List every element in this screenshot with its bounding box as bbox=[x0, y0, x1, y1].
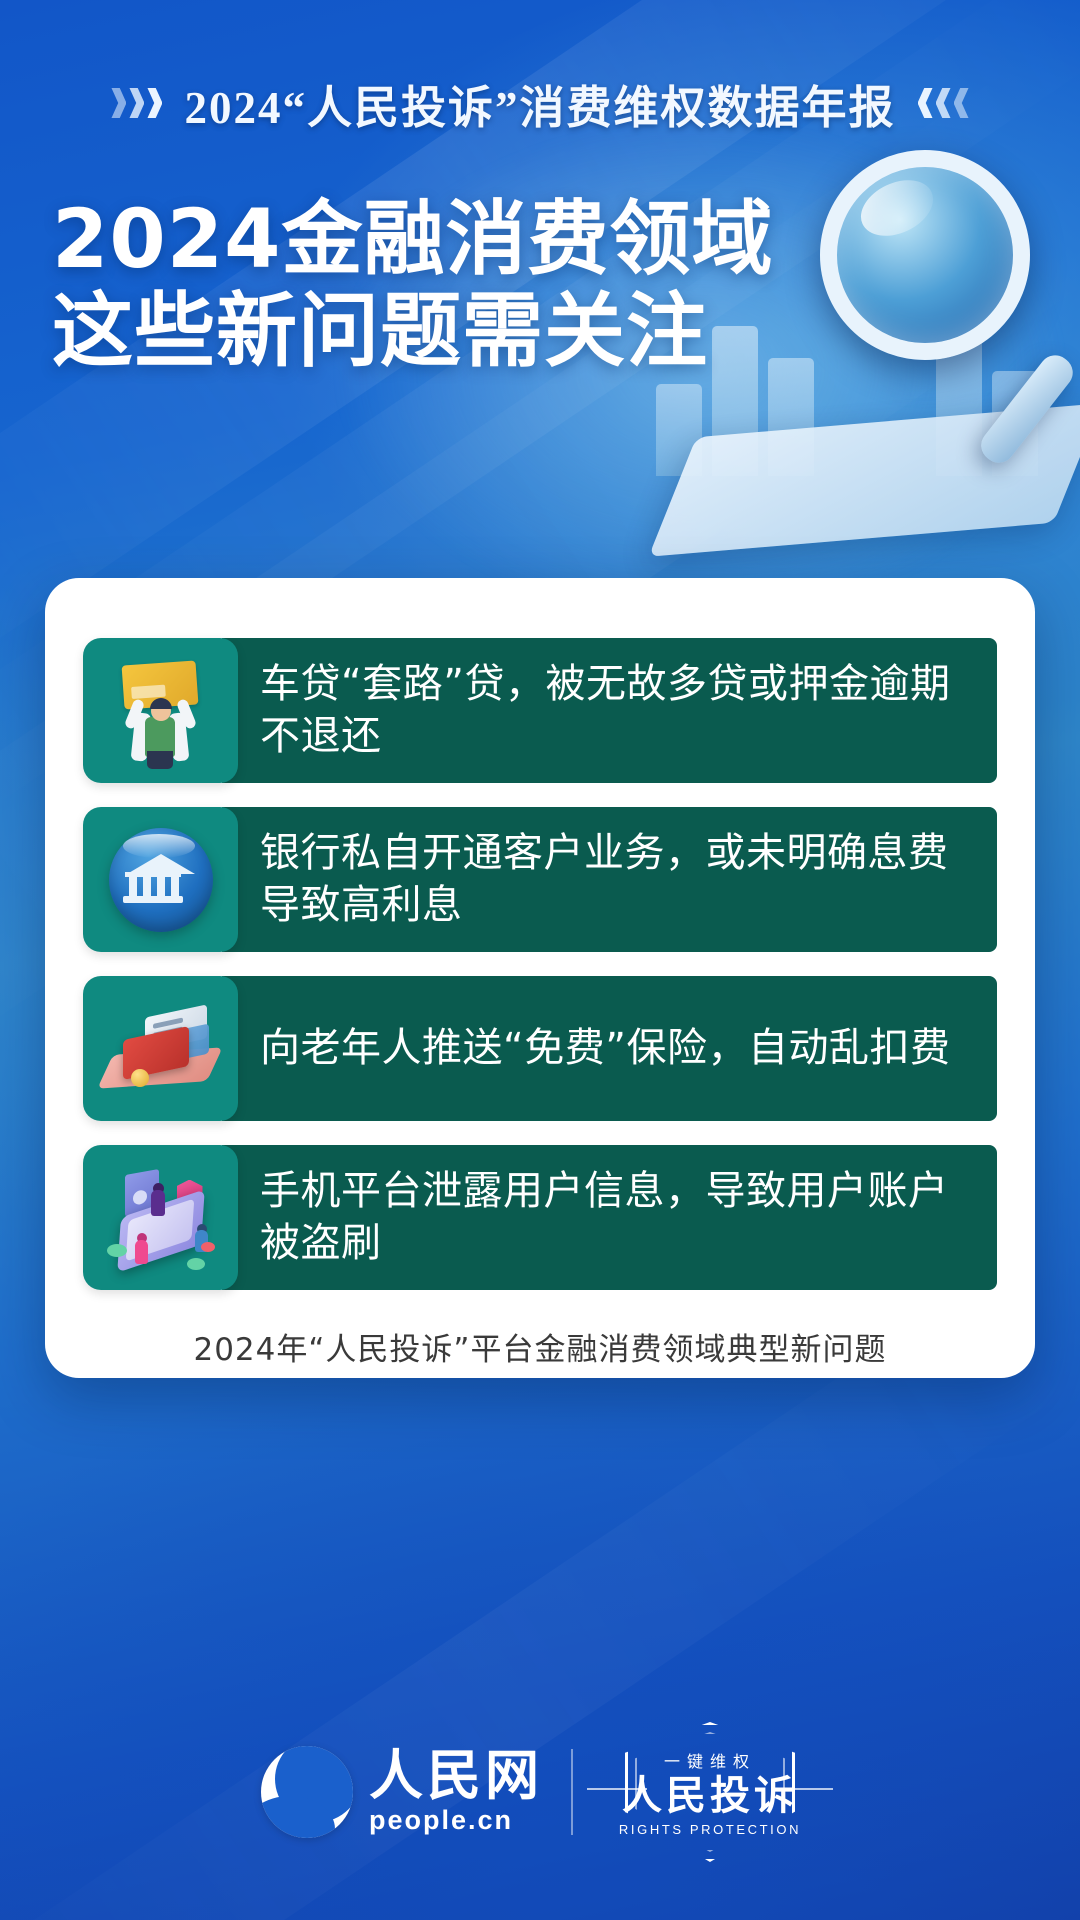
hero-title-line-1: 2024金融消费领域 bbox=[52, 195, 772, 287]
header-banner: 2024“人民投诉”消费维权数据年报 bbox=[0, 60, 1080, 146]
chevron-right-triple-icon bbox=[111, 88, 162, 118]
list-item[interactable]: 车贷“套路”贷，被无故多贷或押金逾期不退还 bbox=[83, 638, 997, 783]
shield-main-label: 人民投诉 bbox=[622, 1776, 798, 1816]
list-item[interactable]: 银行私自开通客户业务，或未明确息费导致高利息 bbox=[83, 807, 997, 952]
rights-protection-logo[interactable]: 一键维权 人民投诉 RIGHTS PROTECTION bbox=[601, 1722, 819, 1862]
wallet-with-cards-icon bbox=[83, 976, 238, 1121]
hero-title-block: 2024金融消费领域 这些新问题需关注 bbox=[52, 195, 772, 378]
footer-logos: 人民网 people.cn 一键维权 人民投诉 RIGHTS PROTECTIO… bbox=[0, 1722, 1080, 1862]
bank-building-circle-icon bbox=[83, 807, 238, 952]
problem-card-list: 车贷“套路”贷，被无故多贷或押金逾期不退还 银行私自开通客户业务，或未明确息费导… bbox=[45, 638, 1035, 1290]
card-text-wrap: 手机平台泄露用户信息，导致用户账户被盗刷 bbox=[222, 1145, 997, 1290]
mobile-platform-data-leak-icon bbox=[83, 1145, 238, 1290]
shield-english-label: RIGHTS PROTECTION bbox=[619, 1822, 801, 1837]
people-cn-logo[interactable]: 人民网 people.cn bbox=[261, 1746, 543, 1838]
people-cn-swirl-logo-icon bbox=[261, 1746, 353, 1838]
panel-caption: 2024年“人民投诉”平台金融消费领域典型新问题 bbox=[45, 1324, 1035, 1369]
chevron-left-triple-icon bbox=[918, 88, 969, 118]
card-text-wrap: 向老年人推送“免费”保险，自动乱扣费 bbox=[222, 976, 997, 1121]
card-text: 向老年人推送“免费”保险，自动乱扣费 bbox=[260, 1023, 950, 1074]
card-text: 银行私自开通客户业务，或未明确息费导致高利息 bbox=[260, 828, 977, 930]
shield-top-label: 一键维权 bbox=[664, 1748, 756, 1772]
card-text-wrap: 银行私自开通客户业务，或未明确息费导致高利息 bbox=[222, 807, 997, 952]
hero-title-line-2: 这些新问题需关注 bbox=[52, 287, 772, 379]
footer-divider bbox=[571, 1749, 573, 1835]
card-text: 手机平台泄露用户信息，导致用户账户被盗刷 bbox=[260, 1166, 977, 1268]
card-text-wrap: 车贷“套路”贷，被无故多贷或押金逾期不退还 bbox=[222, 638, 997, 783]
content-panel: 车贷“套路”贷，被无故多贷或押金逾期不退还 银行私自开通客户业务，或未明确息费导… bbox=[45, 578, 1035, 1378]
list-item[interactable]: 向老年人推送“免费”保险，自动乱扣费 bbox=[83, 976, 997, 1121]
header-title: 2024“人民投诉”消费维权数据年报 bbox=[184, 71, 895, 136]
people-cn-english-name: people.cn bbox=[369, 1805, 543, 1836]
people-cn-chinese-name: 人民网 bbox=[369, 1749, 543, 1803]
person-holding-bank-card-icon bbox=[83, 638, 238, 783]
magnifier-lens-icon bbox=[820, 150, 1030, 360]
card-text: 车贷“套路”贷，被无故多贷或押金逾期不退还 bbox=[260, 659, 977, 761]
list-item[interactable]: 手机平台泄露用户信息，导致用户账户被盗刷 bbox=[83, 1145, 997, 1290]
